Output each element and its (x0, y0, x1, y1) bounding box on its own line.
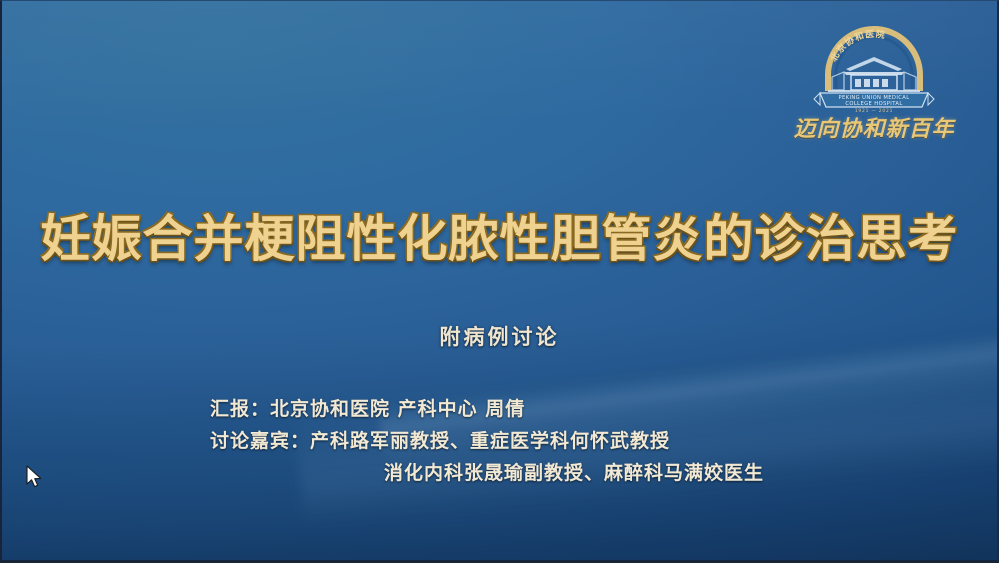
logo-slogan: 迈向协和新百年 (779, 111, 969, 143)
discussion-guests-line-1: 讨论嘉宾：产科路军丽教授、重症医学科何怀武教授 (2, 425, 997, 457)
discussion-guests-line-2: 消化内科张晟瑜副教授、麻醉科马满姣医生 (2, 457, 997, 489)
slide-title: 妊娠合并梗阻性化脓性胆管炎的诊治思考 (2, 199, 997, 271)
slide-subtitle: 附病例讨论 (2, 321, 997, 351)
svg-text:COLLEGE HOSPITAL: COLLEGE HOSPITAL (845, 101, 902, 107)
pumch-emblem-icon: 北京协和医院 PEKING UNION (810, 17, 938, 113)
svg-text:1921 — 2021: 1921 — 2021 (855, 108, 893, 113)
presentation-slide: 北京协和医院 PEKING UNION (0, 0, 999, 563)
presenter-line: 汇报：北京协和医院 产科中心 周倩 (2, 393, 997, 425)
hospital-logo: 北京协和医院 PEKING UNION (779, 17, 969, 155)
credits-block: 汇报：北京协和医院 产科中心 周倩 讨论嘉宾：产科路军丽教授、重症医学科何怀武教… (2, 393, 997, 489)
